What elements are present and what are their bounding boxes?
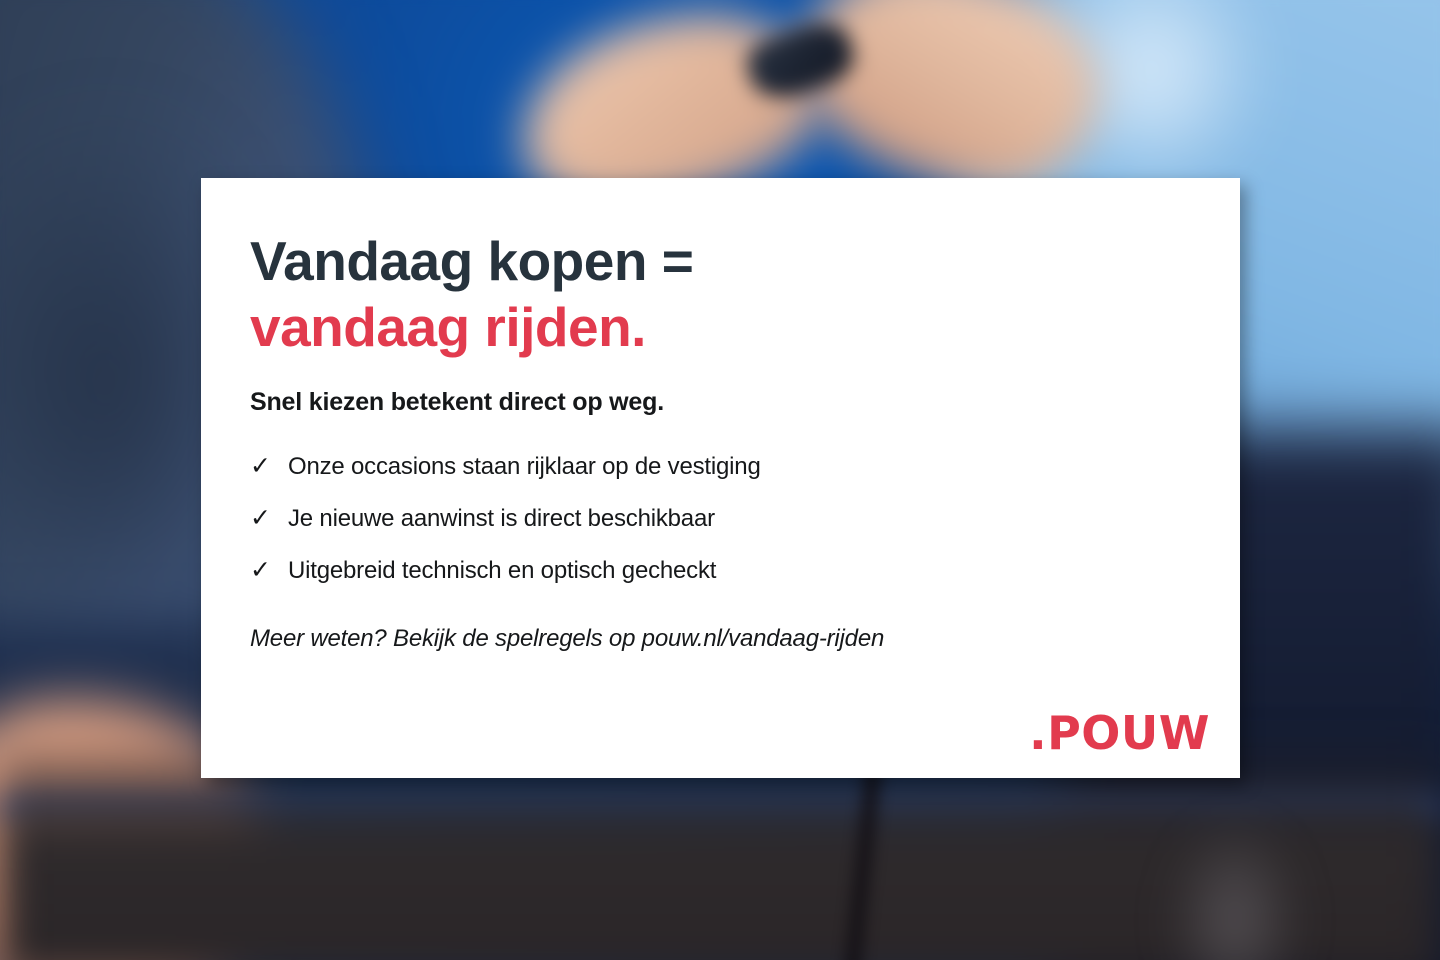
check-icon: ✓ xyxy=(250,452,288,480)
list-item: ✓ Onze occasions staan rijklaar op de ve… xyxy=(250,452,1210,481)
promo-card: Vandaag kopen = vandaag rijden. Snel kie… xyxy=(201,178,1240,778)
list-item: ✓ Je nieuwe aanwinst is direct beschikba… xyxy=(250,504,1210,533)
list-item-label: Onze occasions staan rijklaar op de vest… xyxy=(288,453,761,481)
list-item-label: Uitgebreid technisch en optisch gecheckt xyxy=(288,557,716,585)
subheading: Snel kiezen betekent direct op weg. xyxy=(250,360,1210,418)
list-item-label: Je nieuwe aanwinst is direct beschikbaar xyxy=(288,505,715,533)
pouw-logo: .POUW xyxy=(1029,710,1210,756)
background-pale-patch xyxy=(1170,820,1300,960)
list-item: ✓ Uitgebreid technisch en optisch gechec… xyxy=(250,556,1210,585)
promo-card-content: Vandaag kopen = vandaag rijden. Snel kie… xyxy=(250,178,1210,778)
headline-line-dark: Vandaag kopen = xyxy=(250,230,693,292)
benefits-list: ✓ Onze occasions staan rijklaar op de ve… xyxy=(250,418,1210,585)
footnote-link-text[interactable]: Meer weten? Bekijk de spelregels op pouw… xyxy=(250,608,1210,654)
page-title: Vandaag kopen = vandaag rijden. xyxy=(250,178,1210,360)
promo-banner: Vandaag kopen = vandaag rijden. Snel kie… xyxy=(0,0,1440,960)
check-icon: ✓ xyxy=(250,556,288,584)
headline-line-red: vandaag rijden. xyxy=(250,294,1210,360)
check-icon: ✓ xyxy=(250,504,288,532)
